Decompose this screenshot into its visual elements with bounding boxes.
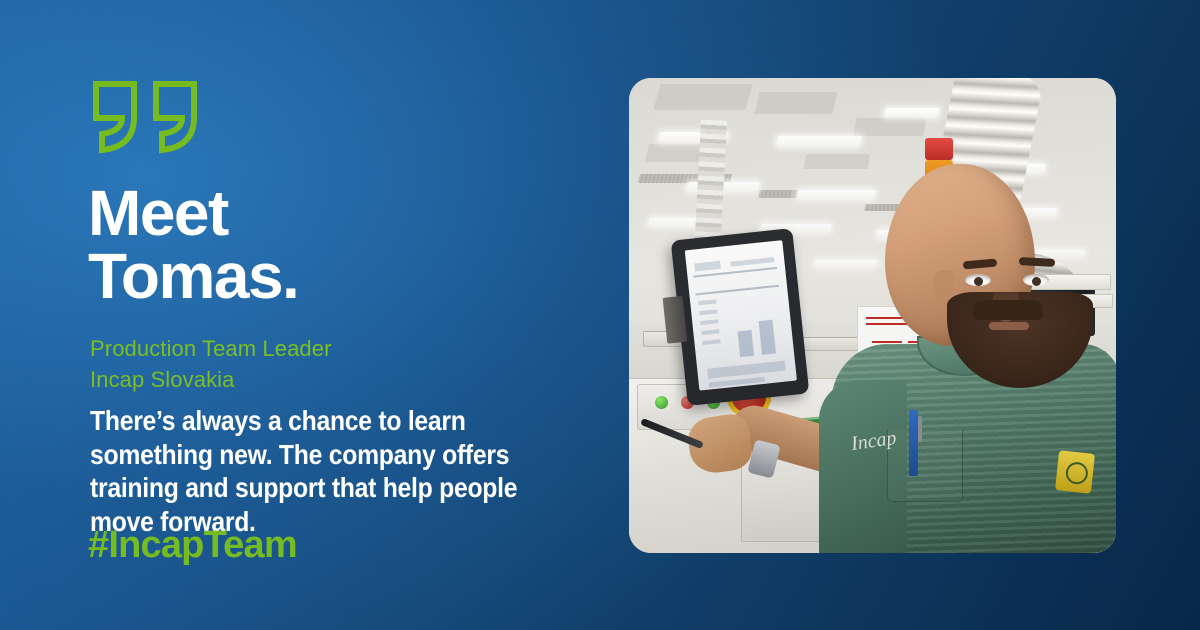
quotation-mark-icon <box>88 78 208 156</box>
photo-scene: Incap <box>629 78 1116 553</box>
page-title: Meet Tomas. <box>88 182 608 307</box>
person-ear <box>933 270 953 302</box>
quote-text: There’s always a chance to learn somethi… <box>90 404 558 538</box>
machine-indicator-green-1 <box>655 396 668 409</box>
pocket-pen <box>909 410 918 476</box>
role-block: Production Team Leader Incap Slovakia <box>90 333 332 395</box>
role-title: Production Team Leader <box>90 333 332 364</box>
person-mustache <box>973 300 1043 320</box>
person-eyebrow-left <box>963 259 998 270</box>
pen-clip <box>918 416 922 442</box>
person-eye-right <box>1023 274 1049 286</box>
social-media-poster: Meet Tomas. Production Team Leader Incap… <box>0 0 1200 630</box>
headline-line-1: Meet <box>88 177 228 249</box>
shirt-pocket <box>887 430 963 502</box>
touchscreen-terminal[interactable] <box>671 228 810 406</box>
esd-armband <box>1055 450 1095 494</box>
text-column: Meet Tomas. Production Team Leader Incap… <box>88 0 618 630</box>
role-company: Incap Slovakia <box>90 364 332 395</box>
headline-line-2: Tomas. <box>88 245 608 308</box>
terminal-mount-arm <box>663 296 688 344</box>
employee-photo: Incap <box>629 78 1116 553</box>
terminal-screen[interactable] <box>685 240 797 390</box>
person-lip <box>989 322 1029 330</box>
person-head <box>885 164 1035 346</box>
person-portrait: Incap <box>825 130 1116 553</box>
person-eye-left <box>965 274 991 286</box>
person-eyebrow-right <box>1019 257 1055 267</box>
hashtag-label: #IncapTeam <box>88 524 297 567</box>
